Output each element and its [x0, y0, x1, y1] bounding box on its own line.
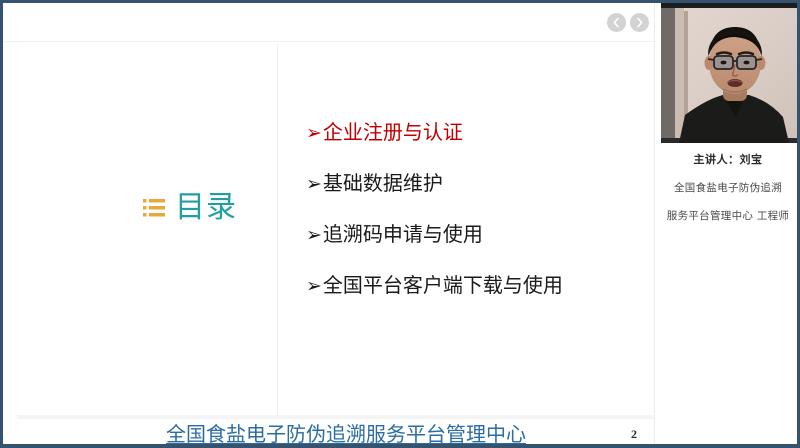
- arrow-bullet-icon: ➢: [306, 226, 322, 245]
- speaker-organization-line-2: 服务平台管理中心 工程师: [663, 208, 793, 223]
- list-item[interactable]: ➢ 基础数据维护: [306, 172, 636, 195]
- list-item-label: 基础数据维护: [323, 172, 443, 195]
- top-divider-rule: [3, 41, 654, 42]
- slide-navigation: [607, 13, 649, 32]
- slide-page-number: 2: [631, 427, 637, 442]
- chevron-right-icon: [635, 17, 644, 28]
- previous-slide-button[interactable]: [607, 13, 626, 32]
- chevron-left-icon: [612, 17, 621, 28]
- slide-canvas[interactable]: 目录 ➢ 企业注册与认证 ➢ 基础数据维护 ➢ 追溯码申请与使用 ➢ 全国平台客…: [3, 3, 654, 444]
- arrow-bullet-icon: ➢: [306, 277, 322, 296]
- list-item[interactable]: ➢ 全国平台客户端下载与使用: [306, 274, 636, 297]
- arrow-bullet-icon: ➢: [306, 124, 322, 143]
- presenter-video-feed[interactable]: [661, 3, 800, 143]
- presenter-sidebar: 主讲人：刘宝 全国食盐电子防伪追溯 服务平台管理中心 工程师: [654, 3, 800, 444]
- list-item-label: 全国平台客户端下载与使用: [323, 274, 563, 297]
- agenda-list: ➢ 企业注册与认证 ➢ 基础数据维护 ➢ 追溯码申请与使用 ➢ 全国平台客户端下…: [306, 121, 636, 297]
- list-item-label: 追溯码申请与使用: [323, 223, 483, 246]
- list-item[interactable]: ➢ 追溯码申请与使用: [306, 223, 636, 246]
- list-menu-icon: [143, 196, 169, 220]
- presentation-viewer: 目录 ➢ 企业注册与认证 ➢ 基础数据维护 ➢ 追溯码申请与使用 ➢ 全国平台客…: [0, 0, 800, 448]
- table-of-contents-heading: 目录: [143, 193, 237, 223]
- footer-divider-strip: [17, 415, 654, 419]
- speaker-name: 主讲人：刘宝: [663, 151, 793, 167]
- slide-footer: 全国食盐电子防伪追溯服务平台管理中心 2: [3, 421, 654, 444]
- speaker-info: 主讲人：刘宝 全国食盐电子防伪追溯 服务平台管理中心 工程师: [655, 151, 800, 223]
- arrow-bullet-icon: ➢: [306, 175, 322, 194]
- speaker-organization-line-1: 全国食盐电子防伪追溯: [663, 180, 793, 195]
- column-divider-rule: [277, 43, 278, 420]
- list-item[interactable]: ➢ 企业注册与认证: [306, 121, 636, 144]
- footer-organization-title: 全国食盐电子防伪追溯服务平台管理中心: [166, 423, 526, 444]
- table-of-contents-label: 目录: [175, 193, 237, 223]
- next-slide-button[interactable]: [630, 13, 649, 32]
- list-item-label: 企业注册与认证: [323, 121, 463, 144]
